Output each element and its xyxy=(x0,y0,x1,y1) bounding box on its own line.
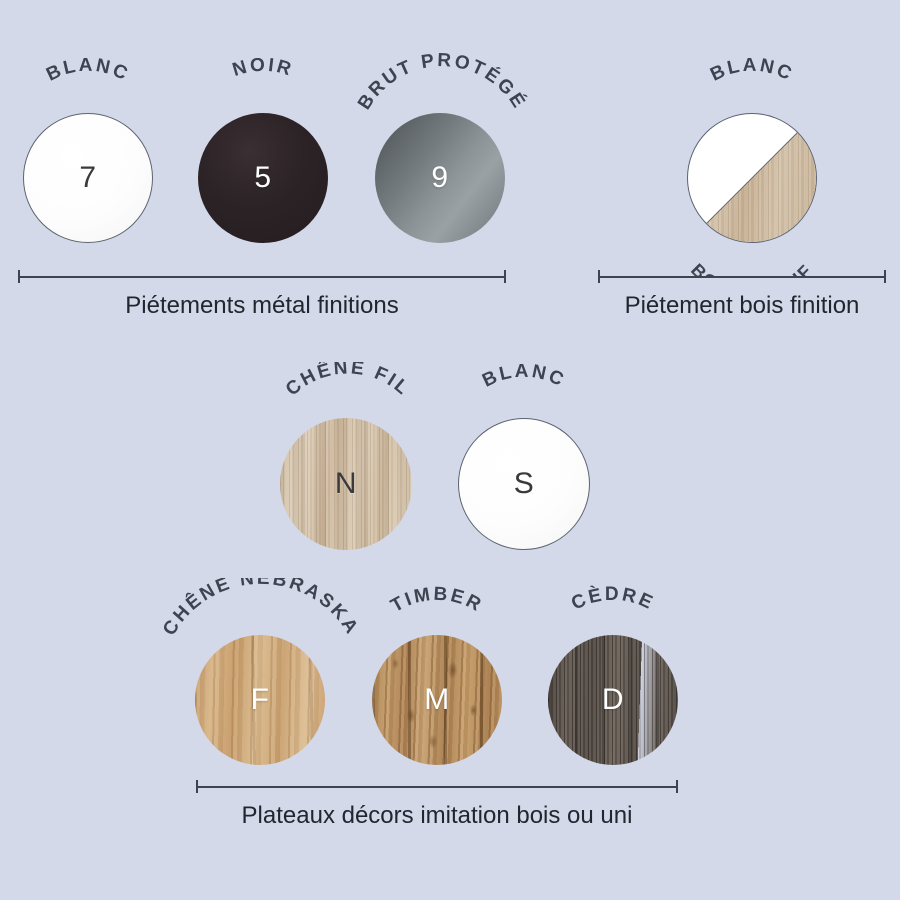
svg-text:TIMBER: TIMBER xyxy=(387,584,486,617)
swatch-code: D xyxy=(548,685,678,715)
arc-text: CÈDRE xyxy=(568,583,658,614)
swatch-disc-white: S xyxy=(458,418,590,550)
bracket-bar xyxy=(196,786,678,788)
arc-text: BLANC xyxy=(479,364,569,392)
swatch-code: N xyxy=(280,469,412,499)
svg-text:CÈDRE: CÈDRE xyxy=(568,583,658,614)
arc-text: TIMBER xyxy=(387,584,486,617)
arc-text: BRUT PROTÉGÉ xyxy=(354,52,531,114)
arc-text: CHÊNE FIL xyxy=(282,362,414,400)
swatch-code: 9 xyxy=(375,163,505,193)
swatch-blanc-s[interactable]: S xyxy=(458,418,590,550)
swatch-code: 5 xyxy=(198,163,328,193)
swatch-disc-white: 7 xyxy=(23,113,153,243)
svg-text:CHÊNE FIL: CHÊNE FIL xyxy=(282,362,414,400)
arc-text: NOIR xyxy=(230,58,296,81)
swatch-disc-cedre: D xyxy=(548,635,678,765)
bracket-bar xyxy=(18,276,506,278)
arc-text: CHÊNE NEBRASKA xyxy=(159,578,363,639)
bracket-tops-decor xyxy=(196,780,678,794)
swatch-disc-timber: M xyxy=(372,635,502,765)
swatch-disc-oak-nebraska: F xyxy=(195,635,325,765)
swatch-board: 7 BLANC 5 NOIR 9 BRUT PROTÉGÉ BLANC BOIS xyxy=(0,0,900,900)
swatch-code: 7 xyxy=(24,163,152,193)
swatch-noir-5[interactable]: 5 xyxy=(198,113,328,243)
swatch-chene-nebraska-f[interactable]: F xyxy=(195,635,325,765)
swatch-disc-split-white-wood xyxy=(687,113,817,243)
swatch-code: S xyxy=(459,469,589,499)
caption-metal-legs: Piétements métal finitions xyxy=(18,292,506,320)
bracket-wood-leg xyxy=(598,270,886,284)
swatch-bois-massif[interactable] xyxy=(687,113,817,243)
swatch-brut-protege-9[interactable]: 9 xyxy=(375,113,505,243)
bracket-metal-legs xyxy=(18,270,506,284)
swatch-disc-oak-fil: N xyxy=(280,418,412,550)
svg-text:BRUT PROTÉGÉ: BRUT PROTÉGÉ xyxy=(354,52,531,114)
bracket-tick-right xyxy=(676,780,678,793)
svg-text:BLANC: BLANC xyxy=(43,58,133,86)
svg-text:CHÊNE NEBRASKA: CHÊNE NEBRASKA xyxy=(159,578,363,639)
swatch-blanc-7[interactable]: 7 xyxy=(23,113,153,243)
swatch-disc-black: 5 xyxy=(198,113,328,243)
swatch-code: M xyxy=(372,685,502,715)
caption-wood-leg: Piétement bois finition xyxy=(598,292,886,320)
svg-text:BLANC: BLANC xyxy=(479,364,569,392)
swatch-cedre-d[interactable]: D xyxy=(548,635,678,765)
bracket-tick-right xyxy=(504,270,506,283)
svg-text:BLANC: BLANC xyxy=(707,58,797,86)
arc-text: BLANC xyxy=(43,58,133,86)
swatch-chene-fil-n[interactable]: N xyxy=(280,418,412,550)
caption-tops-decor: Plateaux décors imitation bois ou uni xyxy=(196,802,678,830)
arc-text: BLANC xyxy=(707,58,797,86)
swatch-disc-raw-steel: 9 xyxy=(375,113,505,243)
svg-text:NOIR: NOIR xyxy=(230,58,296,81)
bracket-tick-right xyxy=(884,270,886,283)
swatch-code: F xyxy=(195,685,325,715)
split-divider-line xyxy=(688,114,816,242)
bracket-bar xyxy=(598,276,886,278)
swatch-timber-m[interactable]: M xyxy=(372,635,502,765)
